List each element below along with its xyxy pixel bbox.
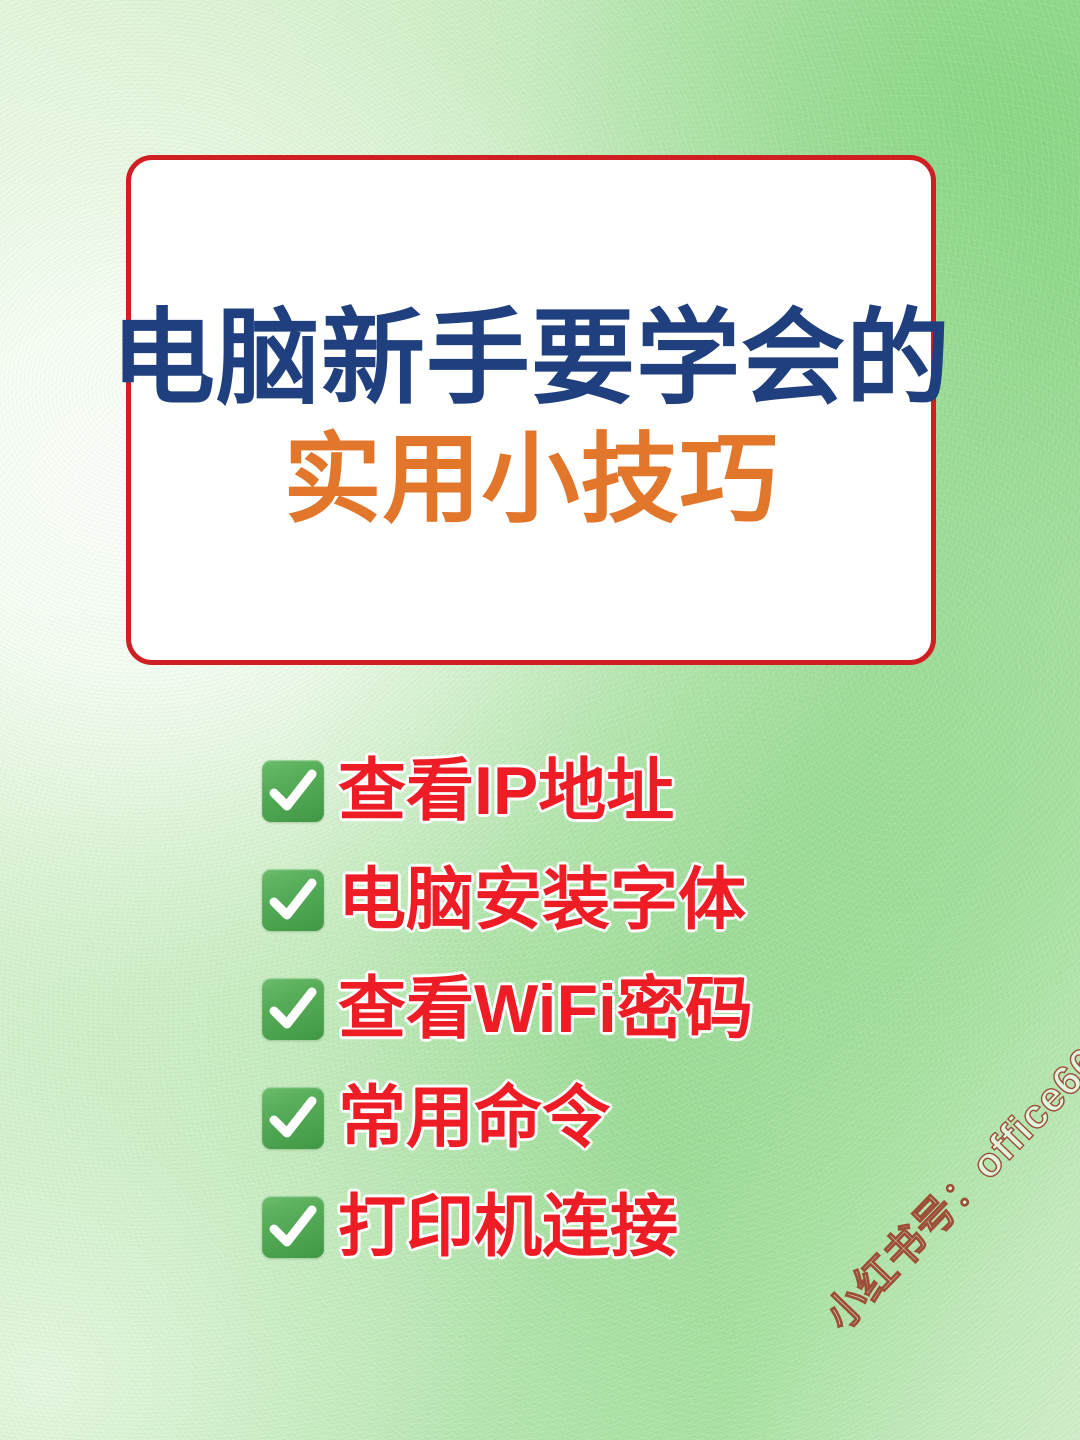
- list-item: 常用命令: [262, 1072, 962, 1164]
- list-item: 电脑安装字体: [262, 854, 962, 946]
- list-item-label: 查看IP地址: [338, 757, 674, 825]
- list-item-label: 常用命令: [338, 1084, 610, 1152]
- list-item-label: 查看WiFi密码: [338, 975, 753, 1043]
- checklist: 查看IP地址 电脑安装字体 查看WiFi密码: [262, 745, 962, 1273]
- list-item: 查看WiFi密码: [262, 963, 962, 1055]
- check-mark-icon: [262, 760, 324, 822]
- check-mark-icon: [262, 869, 324, 931]
- list-item-label: 电脑安装字体: [338, 866, 746, 934]
- list-item: 查看IP地址: [262, 745, 962, 837]
- check-mark-icon: [262, 1196, 324, 1258]
- title-card: 电脑新手要学会的 实用小技巧: [126, 155, 936, 665]
- check-mark-icon: [262, 1087, 324, 1149]
- list-item-label: 打印机连接: [338, 1193, 678, 1261]
- title-primary: 电脑新手要学会的: [111, 300, 951, 419]
- poster-canvas: 电脑新手要学会的 实用小技巧 查看IP地址 电脑安装字体: [0, 0, 1080, 1440]
- check-mark-icon: [262, 978, 324, 1040]
- title-secondary: 实用小技巧: [283, 424, 778, 536]
